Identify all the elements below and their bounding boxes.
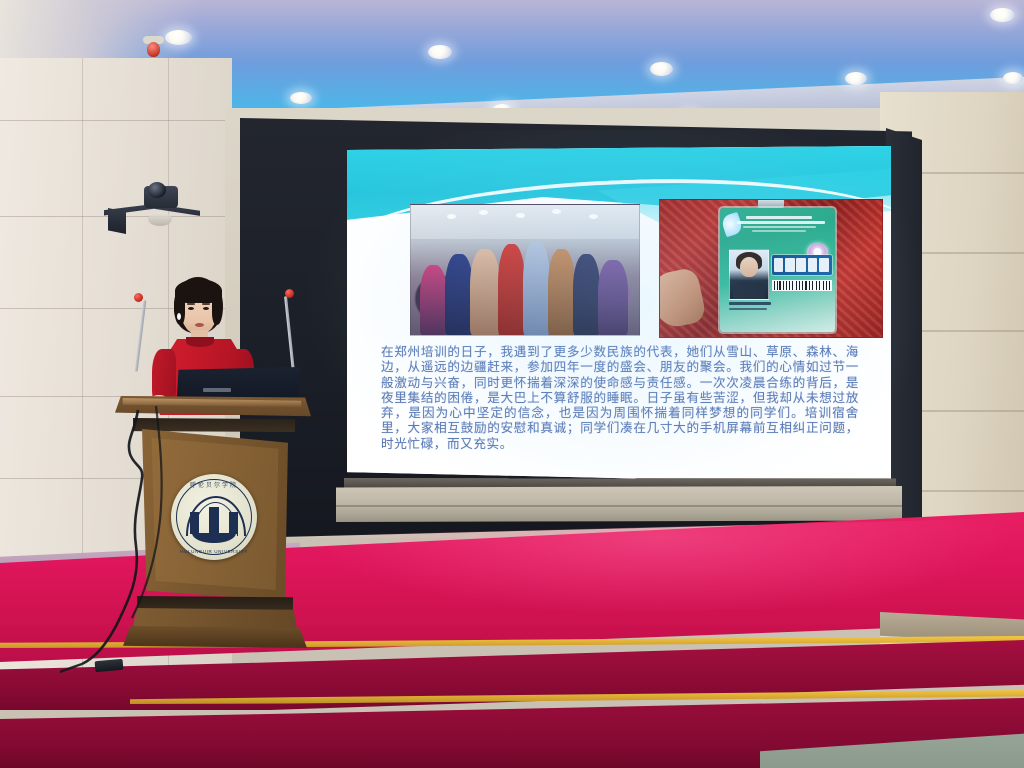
screen-base-wall <box>336 486 902 522</box>
microphone-head-right <box>285 289 294 298</box>
microphone-head-left <box>134 293 143 302</box>
badge-portrait-photo <box>729 249 769 300</box>
slide: 在郑州培训的日子，我遇到了更多少数民族的代表，她们从雪山、草原、森林、海边，从遥… <box>347 146 891 484</box>
podium-cables <box>60 400 320 700</box>
delegate-badge <box>720 208 835 331</box>
laptop-logo <box>203 388 230 392</box>
earring-icon <box>177 313 181 320</box>
badge-holder-name <box>729 302 777 312</box>
downlight-icon <box>290 92 312 104</box>
led-presentation-screen: 在郑州培训的日子，我遇到了更多少数民族的代表，她们从雪山、草原、森林、海边，从遥… <box>347 146 891 484</box>
fire-alarm-icon <box>147 42 160 57</box>
acoustic-panel-right <box>886 128 922 528</box>
downlight-icon <box>165 30 192 45</box>
badge-event-title <box>727 216 831 241</box>
downlight-icon <box>1003 72 1023 84</box>
slide-body-text: 在郑州培训的日子，我遇到了更多少数民族的代表，她们从雪山、草原、森林、海边，从遥… <box>381 344 859 451</box>
badge-photo <box>659 199 883 338</box>
badge-role-label <box>772 255 832 275</box>
downlight-icon <box>650 62 673 76</box>
downlight-icon <box>428 45 452 59</box>
badge-barcode <box>772 280 832 291</box>
downlight-icon <box>845 72 867 85</box>
ptz-camera-icon <box>104 182 200 234</box>
group-photo <box>410 204 640 336</box>
lecture-hall-photo: 在郑州培训的日子，我遇到了更多少数民族的代表，她们从雪山、草原、森林、海边，从遥… <box>0 0 1024 768</box>
downlight-icon <box>990 8 1015 22</box>
